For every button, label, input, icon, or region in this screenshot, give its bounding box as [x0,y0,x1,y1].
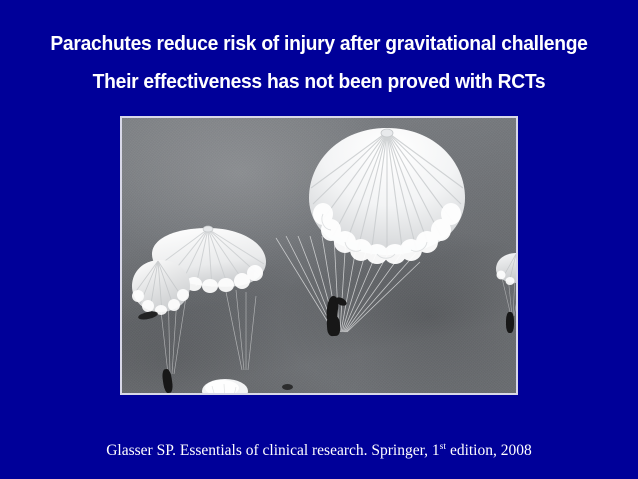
slide-title: Parachutes reduce risk of injury after g… [0,30,638,96]
presentation-slide: Parachutes reduce risk of injury after g… [0,0,638,479]
photo-frame [120,116,518,395]
parachute-canopy-right [494,251,516,285]
parachute-canopy-left-small [130,258,192,314]
paratrooper-figure-main-legs [326,316,340,337]
title-line-1: Parachutes reduce risk of injury after g… [19,30,619,58]
title-line-2: Their effectiveness has not been proved … [19,68,619,96]
source-citation: Glasser SP. Essentials of clinical resea… [0,441,638,461]
citation-text-end: edition, 2008 [446,442,532,459]
parachute-canopy-main [307,126,467,261]
paratrooper-figure-right [506,312,514,333]
dark-shape-right [282,384,293,390]
parachute-photograph [122,118,516,393]
citation-text: Glasser SP. Essentials of clinical resea… [106,442,439,459]
parachute-canopy-low [200,376,250,393]
